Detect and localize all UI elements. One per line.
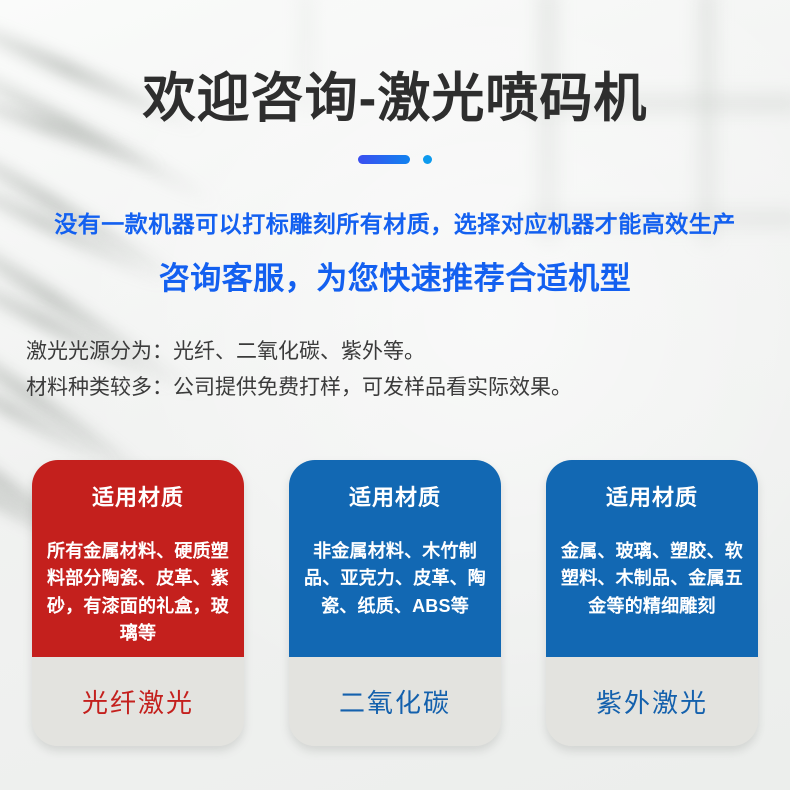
card-heading: 适用材质 xyxy=(302,480,488,512)
subtitle-secondary: 咨询客服，为您快速推荐合适机型 xyxy=(0,253,790,298)
card-body: 适用材质 非金属材料、木竹制品、亚克力、皮革、陶瓷、纸质、ABS等 xyxy=(289,460,501,657)
divider-bar-icon xyxy=(358,155,410,164)
intro-line-1: 激光光源分为：光纤、二氧化碳、紫外等。 xyxy=(26,336,425,369)
card-heading: 适用材质 xyxy=(559,480,745,512)
material-card-list: 适用材质 所有金属材料、硬质塑料部分陶瓷、皮革、紫砂，有漆面的礼盒，玻璃等 光纤… xyxy=(32,460,758,746)
card-materials: 所有金属材料、硬质塑料部分陶瓷、皮革、紫砂，有漆面的礼盒，玻璃等 xyxy=(45,538,231,647)
card-footer-label: 光纤激光 xyxy=(32,657,244,746)
card-body: 适用材质 金属、玻璃、塑胶、软塑料、木制品、金属五金等的精细雕刻 xyxy=(546,460,758,657)
title-divider xyxy=(0,152,790,166)
card-footer-label: 紫外激光 xyxy=(546,657,758,746)
card-materials: 金属、玻璃、塑胶、软塑料、木制品、金属五金等的精细雕刻 xyxy=(559,538,745,620)
promo-banner: 欢迎咨询-激光喷码机 没有一款机器可以打标雕刻所有材质，选择对应机器才能高效生产… xyxy=(0,0,790,790)
page-title: 欢迎咨询-激光喷码机 xyxy=(0,69,790,130)
divider-dot-icon xyxy=(423,155,432,164)
intro-line-2: 材料种类较多：公司提供免费打样，可发样品看实际效果。 xyxy=(26,372,572,405)
card-heading: 适用材质 xyxy=(45,480,231,512)
material-card-uv[interactable]: 适用材质 金属、玻璃、塑胶、软塑料、木制品、金属五金等的精细雕刻 紫外激光 xyxy=(546,460,758,746)
card-footer-label: 二氧化碳 xyxy=(289,657,501,746)
material-card-co2[interactable]: 适用材质 非金属材料、木竹制品、亚克力、皮革、陶瓷、纸质、ABS等 二氧化碳 xyxy=(289,460,501,746)
card-body: 适用材质 所有金属材料、硬质塑料部分陶瓷、皮革、紫砂，有漆面的礼盒，玻璃等 xyxy=(32,460,244,657)
card-materials: 非金属材料、木竹制品、亚克力、皮革、陶瓷、纸质、ABS等 xyxy=(302,538,488,620)
subtitle-primary: 没有一款机器可以打标雕刻所有材质，选择对应机器才能高效生产 xyxy=(0,205,790,239)
material-card-fiber[interactable]: 适用材质 所有金属材料、硬质塑料部分陶瓷、皮革、紫砂，有漆面的礼盒，玻璃等 光纤… xyxy=(32,460,244,746)
